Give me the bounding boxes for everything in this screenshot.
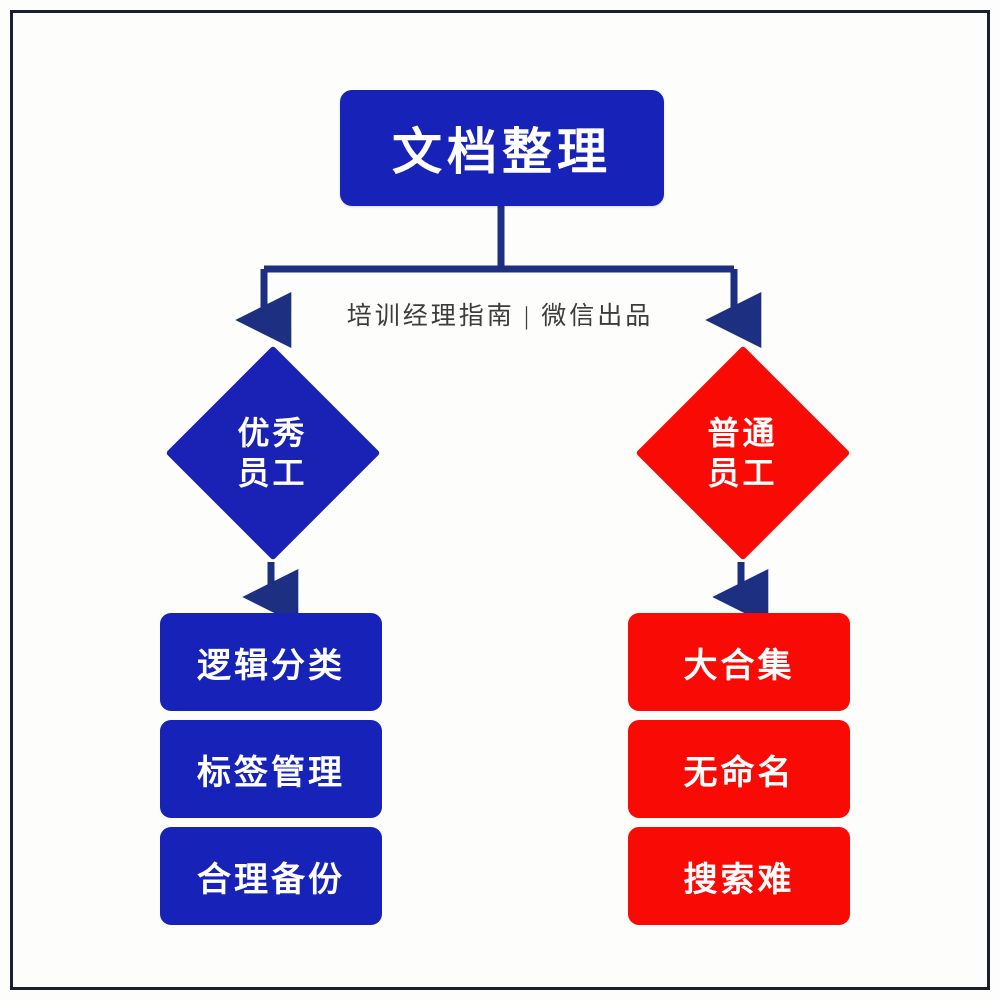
- leaf-node-right-2[interactable]: 无命名: [628, 720, 850, 818]
- branch-node-excellent-employee[interactable]: 优秀 员工: [165, 345, 380, 560]
- leaf-node-left-2[interactable]: 标签管理: [160, 720, 382, 818]
- watermark-credit: 培训经理指南 | 微信出品: [0, 296, 1000, 332]
- diamond-shape-blue: [165, 345, 380, 560]
- leaf-node-left-1[interactable]: 逻辑分类: [160, 613, 382, 711]
- diamond-shape-red: [635, 345, 850, 560]
- branch-node-ordinary-employee[interactable]: 普通 员工: [635, 345, 850, 560]
- leaf-node-right-3[interactable]: 搜索难: [628, 827, 850, 925]
- flowchart-canvas: 文档整理 培训经理指南 | 微信出品 优秀 员工 普通 员工 逻辑分类 标签管理…: [0, 0, 1000, 1000]
- root-node-document-organization[interactable]: 文档整理: [340, 90, 664, 206]
- leaf-node-left-3[interactable]: 合理备份: [160, 827, 382, 925]
- leaf-node-right-1[interactable]: 大合集: [628, 613, 850, 711]
